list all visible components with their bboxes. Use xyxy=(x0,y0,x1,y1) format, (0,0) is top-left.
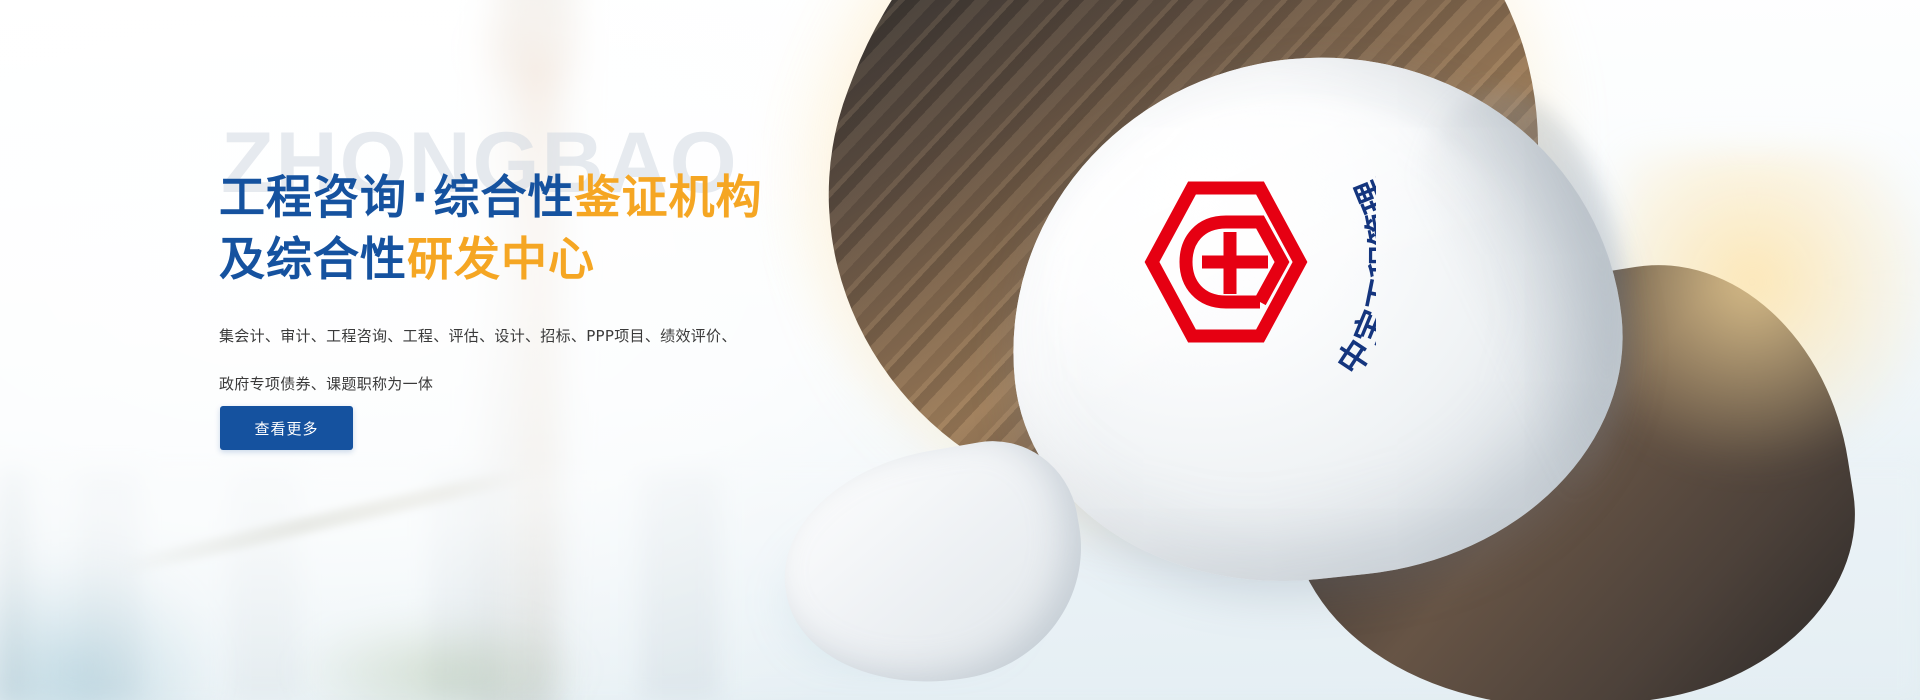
hand-holding-helmet-photo: 中宝工程管理 xyxy=(820,0,1920,700)
hexagon-logo xyxy=(1140,178,1312,346)
hero-content: ZHONGBAO 工程咨询·综合性鉴证机构 及综合性研发中心 集会计、审计、工程… xyxy=(219,0,939,700)
headline-line1-part1: 工程咨询 xyxy=(219,170,407,224)
headline-line2-accent: 研发中心 xyxy=(407,232,595,286)
headline-line-2: 及综合性研发中心 xyxy=(219,228,939,290)
sleeve-sun-glow xyxy=(1620,150,1920,480)
description-line-1: 集会计、审计、工程咨询、工程、评估、设计、招标、PPP项目、绩效评价、 xyxy=(219,312,819,360)
headline: 工程咨询·综合性鉴证机构 及综合性研发中心 xyxy=(219,166,939,290)
hero-banner: 中宝工程管理 ZHONGBAO 工程咨询·综合性鉴证机构 xyxy=(0,0,1920,700)
headline-line1-accent: 鉴证机构 xyxy=(574,170,762,224)
view-more-button[interactable]: 查看更多 xyxy=(220,406,353,450)
description-line-2: 政府专项债券、课题职称为一体 xyxy=(219,360,819,408)
description: 集会计、审计、工程咨询、工程、评估、设计、招标、PPP项目、绩效评价、 政府专项… xyxy=(219,312,819,408)
headline-line2-part1: 及综合性 xyxy=(219,232,407,286)
headline-separator-dot: · xyxy=(407,170,433,224)
headline-line-1: 工程咨询·综合性鉴证机构 xyxy=(219,166,939,228)
helmet-brand-text-label: 中宝工程管理 xyxy=(1330,170,1376,381)
headline-line1-part2: 综合性 xyxy=(433,170,574,224)
